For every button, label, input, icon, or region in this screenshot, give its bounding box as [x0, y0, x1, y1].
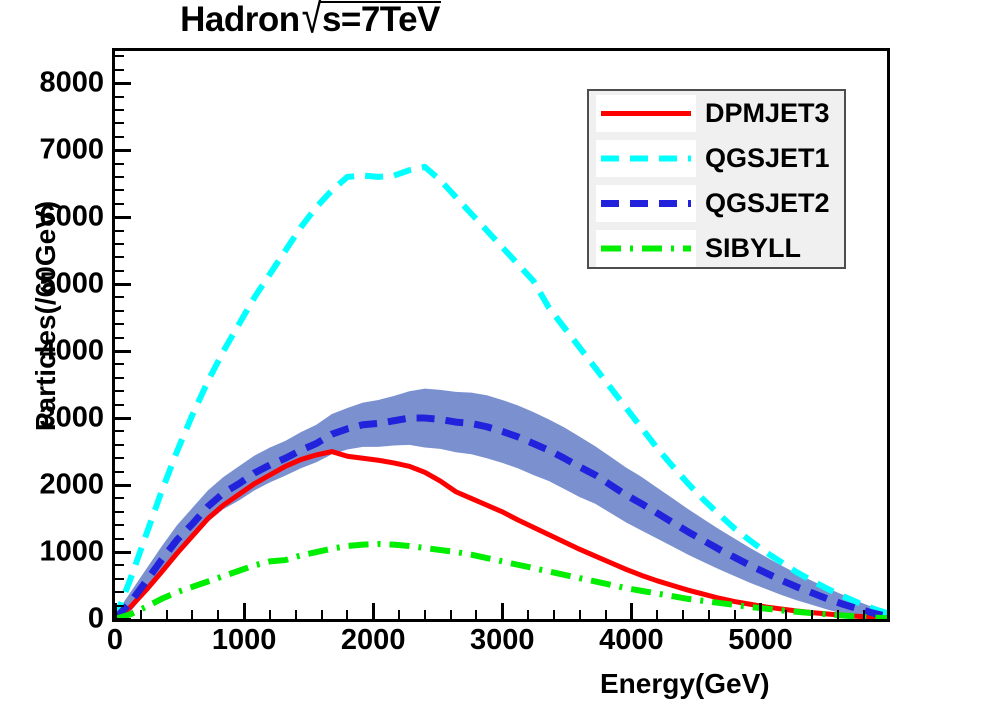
x-minor-tick: [605, 610, 607, 619]
y-minor-tick: [115, 377, 124, 379]
y-minor-tick: [115, 230, 124, 232]
x-minor-tick: [734, 610, 736, 619]
y-tick: [115, 149, 131, 152]
x-minor-tick: [837, 610, 839, 619]
x-tick: [114, 603, 117, 619]
y-minor-tick: [115, 511, 124, 513]
y-minor-tick: [115, 122, 124, 124]
y-minor-tick: [115, 404, 124, 406]
chart-canvas: Hadron√s=7TeV Particles(/60GeV) Energy(G…: [0, 0, 990, 706]
y-minor-tick: [115, 471, 124, 473]
y-minor-tick: [115, 430, 124, 432]
x-minor-tick: [140, 610, 142, 619]
y-tick-label: 0: [0, 603, 104, 636]
x-minor-tick: [656, 610, 658, 619]
legend-item-qgsjet1[interactable]: QGSJET1: [589, 136, 844, 181]
y-minor-tick: [115, 96, 124, 98]
x-minor-tick: [785, 610, 787, 619]
title-sqrt-group: √s=7TeV: [300, 0, 440, 41]
x-minor-tick: [475, 610, 477, 619]
legend-swatch-dpmjet3: [596, 95, 696, 132]
y-tick-label: 4000: [0, 335, 104, 368]
y-tick: [115, 551, 131, 554]
x-tick-label: 2000: [341, 624, 406, 657]
y-minor-tick: [115, 363, 124, 365]
y-minor-tick: [115, 55, 124, 57]
x-minor-tick: [269, 610, 271, 619]
y-minor-tick: [115, 538, 124, 540]
x-minor-tick: [682, 610, 684, 619]
chart-title: Hadron√s=7TeV: [0, 0, 620, 41]
y-minor-tick: [115, 296, 124, 298]
x-tick: [372, 603, 375, 619]
error-band-qgsjet2: [115, 389, 887, 619]
y-minor-tick: [115, 444, 124, 446]
y-minor-tick: [115, 109, 124, 111]
y-minor-tick: [115, 591, 124, 593]
legend-label: QGSJET1: [705, 143, 830, 174]
y-minor-tick: [115, 243, 124, 245]
x-tick: [759, 603, 762, 619]
y-minor-tick: [115, 564, 124, 566]
x-minor-tick: [191, 610, 193, 619]
y-tick: [115, 82, 131, 85]
y-minor-tick: [115, 270, 124, 272]
x-tick: [243, 603, 246, 619]
y-tick-label: 8000: [0, 67, 104, 100]
x-minor-tick: [295, 610, 297, 619]
y-tick: [115, 618, 131, 621]
y-tick: [115, 216, 131, 219]
sqrt-icon: √: [302, 0, 322, 45]
y-tick: [115, 417, 131, 420]
chart-legend: DPMJET3QGSJET1QGSJET2SIBYLL: [587, 89, 846, 269]
x-minor-tick: [811, 610, 813, 619]
title-prefix: Hadron: [180, 0, 300, 39]
y-tick-label: 2000: [0, 469, 104, 502]
legend-label: DPMJET3: [705, 98, 830, 129]
x-minor-tick: [553, 610, 555, 619]
x-minor-tick: [424, 610, 426, 619]
x-axis-label: Energy(GeV): [600, 668, 770, 700]
y-minor-tick: [115, 390, 124, 392]
y-minor-tick: [115, 337, 124, 339]
x-minor-tick: [450, 610, 452, 619]
x-minor-tick: [346, 610, 348, 619]
x-minor-tick: [217, 610, 219, 619]
y-tick: [115, 350, 131, 353]
x-tick-label: 5000: [728, 624, 793, 657]
legend-label: QGSJET2: [705, 188, 830, 219]
y-minor-tick: [115, 203, 124, 205]
title-suffix: s=7TeV: [322, 0, 440, 39]
x-minor-tick: [579, 610, 581, 619]
y-minor-tick: [115, 310, 124, 312]
legend-label: SIBYLL: [705, 233, 801, 264]
x-tick-label: 0: [107, 624, 123, 657]
y-tick-label: 1000: [0, 536, 104, 569]
legend-item-dpmjet3[interactable]: DPMJET3: [589, 91, 844, 136]
x-minor-tick: [166, 610, 168, 619]
x-minor-tick: [708, 610, 710, 619]
x-minor-tick: [527, 610, 529, 619]
x-minor-tick: [863, 610, 865, 619]
legend-item-qgsjet2[interactable]: QGSJET2: [589, 181, 844, 226]
y-minor-tick: [115, 578, 124, 580]
x-tick-label: 3000: [470, 624, 535, 657]
sqrt-overbar: [319, 1, 441, 3]
x-tick-label: 4000: [599, 624, 664, 657]
y-minor-tick: [115, 69, 124, 71]
x-minor-tick: [398, 610, 400, 619]
y-minor-tick: [115, 163, 124, 165]
y-minor-tick: [115, 256, 124, 258]
y-minor-tick: [115, 497, 124, 499]
y-minor-tick: [115, 323, 124, 325]
y-tick-label: 6000: [0, 201, 104, 234]
y-minor-tick: [115, 136, 124, 138]
y-minor-tick: [115, 457, 124, 459]
y-tick: [115, 283, 131, 286]
y-tick-label: 5000: [0, 268, 104, 301]
y-tick-label: 7000: [0, 134, 104, 167]
y-minor-tick: [115, 524, 124, 526]
legend-swatch-qgsjet2: [596, 185, 696, 222]
y-minor-tick: [115, 176, 124, 178]
y-tick: [115, 484, 131, 487]
x-minor-tick: [321, 610, 323, 619]
x-tick: [501, 603, 504, 619]
legend-swatch-qgsjet1: [596, 140, 696, 177]
y-tick-label: 3000: [0, 402, 104, 435]
y-minor-tick: [115, 189, 124, 191]
legend-swatch-sibyll: [596, 230, 696, 267]
legend-item-sibyll[interactable]: SIBYLL: [589, 226, 844, 271]
x-tick: [630, 603, 633, 619]
x-tick-label: 1000: [212, 624, 277, 657]
